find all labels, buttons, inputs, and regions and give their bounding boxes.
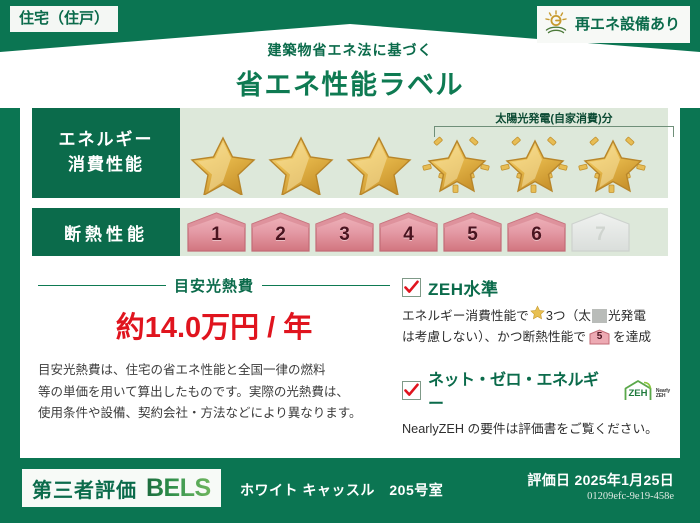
- note-line-1: 目安光熱費は、住宅の省エネ性能と全国一律の燃料: [38, 360, 390, 382]
- net-zero-checkbox[interactable]: [402, 381, 421, 400]
- footer-bar: 第三者評価 BELS ホワイト キャッスル 205号室 評価日 2025年1月2…: [0, 458, 700, 523]
- zeh-desc-text-d: は考慮しない）、かつ断熱性能で: [402, 327, 586, 348]
- insulation-grade-number: 7: [595, 224, 606, 253]
- star-rating: [180, 132, 668, 196]
- rule-left: [38, 285, 166, 286]
- utility-cost-note: 目安光熱費は、住宅の省エネ性能と全国一律の燃料 等の単価を用いて算出したものです…: [38, 360, 390, 425]
- utility-cost-heading-label: 目安光熱費: [174, 275, 254, 296]
- main-card: エネルギー 消費性能 太陽光発電(自家消費)分: [20, 90, 680, 458]
- star-item-solar: [574, 132, 652, 196]
- insulation-grade-number: 6: [531, 224, 542, 253]
- net-zero-desc-line-1: NearlyZEH の要件は評価書をご覧ください。: [402, 419, 670, 440]
- check-icon: [404, 383, 419, 398]
- insulation-grade-number: 3: [339, 224, 350, 253]
- star-icon: [530, 305, 545, 327]
- zeh-house-logo: ZEH Nearly ZEH: [622, 378, 670, 402]
- net-zero-description: NearlyZEH の要件は評価書をご覧ください。: [402, 419, 670, 440]
- zeh-desc-text-e: を達成: [613, 327, 651, 348]
- insulation-grade-7: 7: [570, 211, 631, 253]
- zeh-desc-line-1: エネルギー消費性能で 3つ（太 光発電: [402, 305, 670, 327]
- solar-portion-label: 太陽光発電(自家消費)分: [430, 110, 678, 126]
- star-item: [262, 132, 340, 196]
- insulation-grade-inline-number: 5: [589, 329, 610, 345]
- note-line-2: 等の単価を用いて算出したものです。実際の光熱費は、: [38, 382, 390, 404]
- bels-energy-label: 住宅（住戸） 再エネ設備あり 建築物省エネ法に: [0, 0, 700, 523]
- zeh-standard-description: エネルギー消費性能で 3つ（太 光発電 は考慮しない）、かつ断熱性能で: [402, 305, 670, 347]
- renewable-equipment-label: 再エネ設備あり: [575, 17, 680, 32]
- dwelling-type-label: 住宅（住戸）: [19, 10, 109, 27]
- zeh-standard-title: ZEH水準: [428, 275, 499, 300]
- insulation-performance-row: 断熱性能: [32, 208, 668, 256]
- energy-label-line2: 消費性能: [68, 153, 144, 178]
- energy-performance-panel: 太陽光発電(自家消費)分: [180, 108, 668, 198]
- star-item-solar: [418, 132, 496, 196]
- building-name: ホワイト キャッスル 205号室: [240, 480, 443, 500]
- insulation-grade-2: 2: [250, 211, 311, 253]
- zeh-logo-subtext: Nearly ZEH: [656, 389, 670, 400]
- insulation-label-text: 断熱性能: [64, 220, 148, 245]
- title-subtitle: 建築物省エネ法に基づく: [0, 40, 700, 60]
- sun-icon: [543, 10, 569, 39]
- zeh-desc-line-2: は考慮しない）、かつ断熱性能で 5 を達成: [402, 327, 670, 348]
- insulation-grade-inline-badge: 5: [589, 329, 610, 345]
- net-zero-title-row: ネット・ゼロ・エネルギー ZEH Nearly ZEH: [402, 366, 670, 414]
- insulation-grade-5: 5: [442, 211, 503, 253]
- label-title: 建築物省エネ法に基づく 省エネ性能ラベル: [0, 40, 700, 102]
- svg-text:ZEH: ZEH: [628, 388, 647, 399]
- third-party-label: 第三者評価: [32, 474, 137, 503]
- insulation-grade-4: 4: [378, 211, 439, 253]
- utility-cost-block: 目安光熱費 約14.0万円 / 年 目安光熱費は、住宅の省エネ性能と全国一律の燃…: [38, 275, 390, 425]
- utility-cost-value: 約14.0万円 / 年: [38, 304, 390, 346]
- insulation-grade-number: 5: [467, 224, 478, 253]
- net-zero-desc-text: NearlyZEH の要件は評価書をご覧ください。: [402, 419, 658, 440]
- insulation-grade-3: 3: [314, 211, 375, 253]
- insulation-performance-panel: 1 2 3: [180, 208, 668, 256]
- check-icon: [404, 280, 419, 295]
- dwelling-type-tag: 住宅（住戸）: [10, 6, 118, 32]
- energy-performance-label: エネルギー 消費性能: [32, 108, 180, 198]
- energy-performance-row: エネルギー 消費性能 太陽光発電(自家消費)分: [32, 108, 668, 198]
- rule-right: [262, 285, 390, 286]
- bels-certification-plate: 第三者評価 BELS: [22, 469, 221, 507]
- insulation-grade-6: 6: [506, 211, 567, 253]
- note-line-3: 使用条件や設備、契約会社・方法などにより異なります。: [38, 403, 390, 425]
- zeh-logo-sub-line2: ZEH: [656, 393, 665, 399]
- insulation-performance-label: 断熱性能: [32, 208, 180, 256]
- renewable-equipment-badge: 再エネ設備あり: [537, 6, 690, 43]
- insulation-grade-number: 4: [403, 224, 414, 253]
- utility-cost-heading: 目安光熱費: [38, 275, 390, 296]
- insulation-grade-number: 2: [275, 224, 286, 253]
- insulation-grade-number: 1: [211, 224, 222, 253]
- insulation-grade-list: 1 2 3: [186, 211, 631, 253]
- zeh-desc-text-c: 光発電: [608, 306, 646, 327]
- net-zero-title: ネット・ゼロ・エネルギー: [428, 366, 610, 414]
- zeh-desc-text-a: エネルギー消費性能で: [402, 306, 529, 327]
- zeh-standard-title-row: ZEH水準: [402, 275, 670, 300]
- zeh-criteria-block: ZEH水準 エネルギー消費性能で 3つ（太 光発電: [402, 275, 670, 440]
- zeh-desc-text-b: 3つ（太: [546, 306, 591, 327]
- zeh-standard-checkbox[interactable]: [402, 278, 421, 297]
- net-zero-energy-item: ネット・ゼロ・エネルギー ZEH Nearly ZEH: [402, 366, 670, 440]
- evaluation-date: 評価日 2025年1月25日: [527, 470, 674, 490]
- star-item: [340, 132, 418, 196]
- energy-label-line1: エネルギー: [59, 128, 154, 153]
- title-main: 省エネ性能ラベル: [0, 63, 700, 102]
- zeh-standard-item: ZEH水準 エネルギー消費性能で 3つ（太 光発電: [402, 275, 670, 347]
- star-item: [184, 132, 262, 196]
- star-item-solar: [496, 132, 574, 196]
- evaluation-id: 01209efc-9e19-458e: [587, 491, 674, 502]
- bels-logo-text: BELS: [146, 474, 211, 503]
- insulation-grade-1: 1: [186, 211, 247, 253]
- redaction-block: [592, 309, 607, 323]
